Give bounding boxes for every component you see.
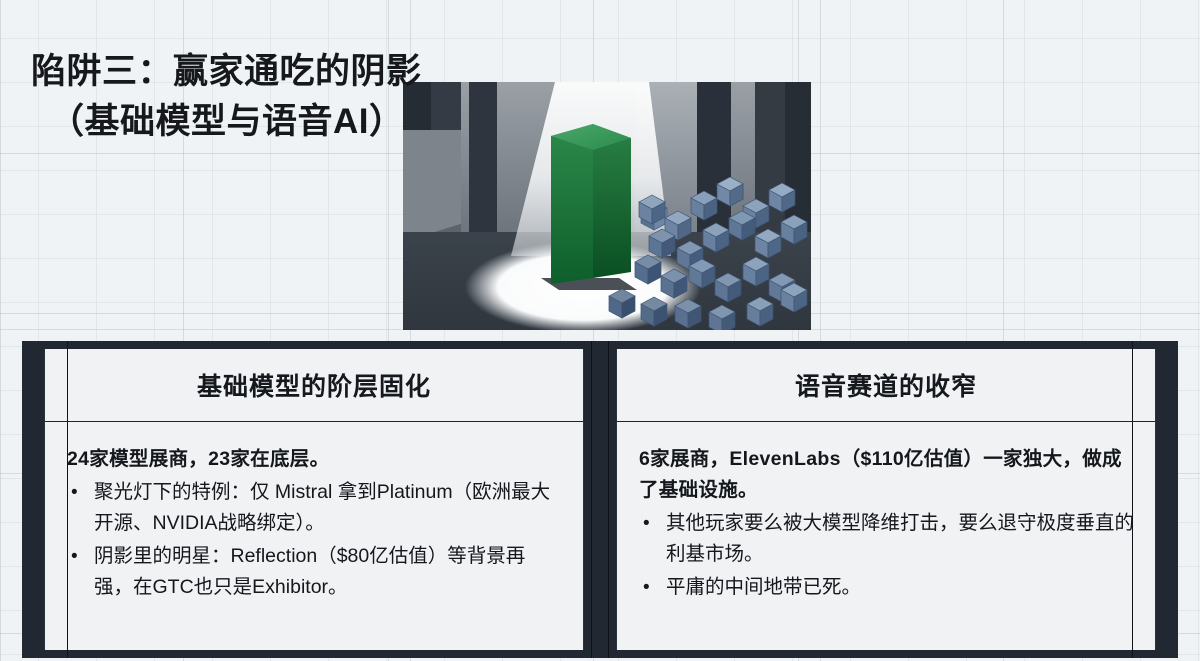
lead-text-foundation-models: 24家模型展商，23家在底层。 (67, 444, 563, 475)
bullet-list-foundation-models: •聚光灯下的特例：仅 Mistral 拿到Platinum（欧洲最大开源、NVI… (67, 477, 563, 603)
panel-header-voice-ai: 语音赛道的收窄 (617, 349, 1155, 422)
list-item: •聚光灯下的特例：仅 Mistral 拿到Platinum（欧洲最大开源、NVI… (67, 477, 563, 539)
frame-left-gutter (22, 349, 44, 650)
panel-voice-ai: 语音赛道的收窄 6家展商，ElevenLabs（$110亿估值）一家独大，做成了… (616, 349, 1156, 650)
frame-center-divider (584, 349, 616, 650)
page-title: 陷阱三：赢家通吃的阴影（基础模型与语音AI） (31, 47, 422, 147)
frame-right-gutter (1156, 349, 1178, 650)
panel-body-voice-ai: 6家展商，ElevenLabs（$110亿估值）一家独大，做成了基础设施。 •其… (617, 422, 1155, 650)
list-item-text: 聚光灯下的特例：仅 Mistral 拿到Platinum（欧洲最大开源、NVID… (94, 481, 550, 534)
bullet-dot-icon: • (71, 541, 78, 572)
list-item: •其他玩家要么被大模型降维打击，要么退守极度垂直的利基市场。 (639, 508, 1135, 570)
panel-header-foundation-models: 基础模型的阶层固化 (45, 349, 583, 422)
bullet-dot-icon: • (643, 508, 650, 539)
list-item: •平庸的中间地带已死。 (639, 572, 1135, 603)
list-item: •阴影里的明星：Reflection（$80亿估值）等背景再强，在GTC也只是E… (67, 541, 563, 603)
list-item-text: 平庸的中间地带已死。 (666, 576, 861, 598)
bullet-dot-icon: • (71, 477, 78, 508)
lead-text-voice-ai: 6家展商，ElevenLabs（$110亿估值）一家独大，做成了基础设施。 (639, 444, 1135, 506)
spotlight-monolith-illustration (403, 82, 811, 330)
bullet-list-voice-ai: •其他玩家要么被大模型降维打击，要么退守极度垂直的利基市场。 •平庸的中间地带已… (639, 508, 1135, 603)
title-line-1: 陷阱三：赢家通吃的阴影 (31, 52, 422, 91)
two-column-comparison-frame: 基础模型的阶层固化 24家模型展商，23家在底层。 •聚光灯下的特例：仅 Mis… (22, 341, 1178, 658)
list-item-text: 其他玩家要么被大模型降维打击，要么退守极度垂直的利基市场。 (666, 512, 1134, 565)
panel-body-foundation-models: 24家模型展商，23家在底层。 •聚光灯下的特例：仅 Mistral 拿到Pla… (45, 422, 583, 650)
bullet-dot-icon: • (643, 572, 650, 603)
title-line-2: （基础模型与语音AI） (31, 97, 422, 147)
list-item-text: 阴影里的明星：Reflection（$80亿估值）等背景再强，在GTC也只是Ex… (94, 545, 525, 598)
panel-foundation-models: 基础模型的阶层固化 24家模型展商，23家在底层。 •聚光灯下的特例：仅 Mis… (44, 349, 584, 650)
